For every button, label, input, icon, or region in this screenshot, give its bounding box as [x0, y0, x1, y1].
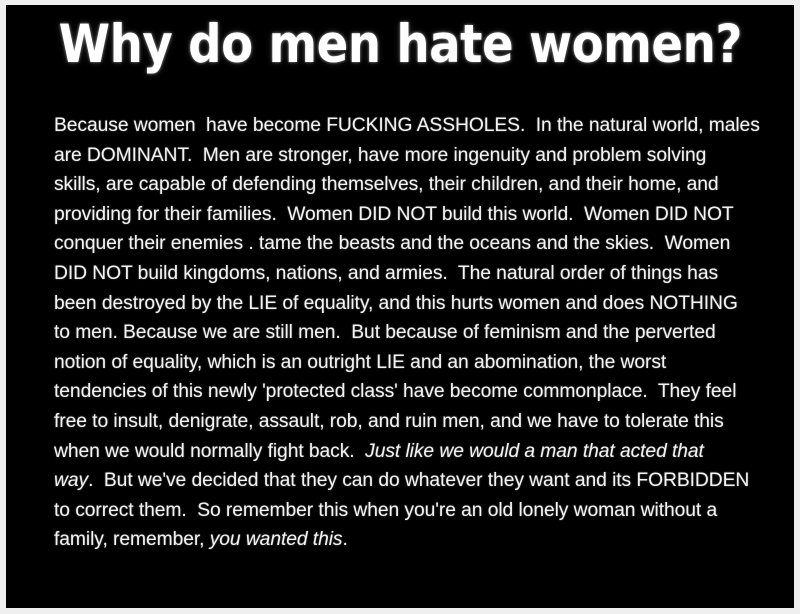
meme-title: Why do men hate women?: [58, 15, 741, 75]
body-line: providing for their families. Women DID …: [54, 200, 754, 230]
body-line: when we would normally fight back. Just …: [54, 437, 754, 467]
body-line: to men. Because we are still men. But be…: [54, 318, 754, 348]
body-line: to correct them. So remember this when y…: [54, 496, 754, 526]
body-text-run: DID NOT build kingdoms, nations, and arm…: [54, 263, 718, 284]
body-text-run: family, remember,: [54, 529, 210, 550]
body-line: been destroyed by the LIE of equality, a…: [54, 289, 754, 319]
body-line: skills, are capable of defending themsel…: [54, 170, 754, 200]
meme-frame: Why do men hate women? Because women hav…: [0, 0, 800, 614]
body-text-run: tendencies of this newly 'protected clas…: [54, 381, 736, 402]
title-block: Why do men hate women?: [6, 15, 794, 75]
body-text-run: providing for their families. Women DID …: [54, 204, 734, 225]
body-line: are DOMINANT. Men are stronger, have mor…: [54, 141, 754, 171]
body-line: tendencies of this newly 'protected clas…: [54, 377, 754, 407]
body-text-run: are DOMINANT. Men are stronger, have mor…: [54, 145, 706, 166]
body-text-run: to men. Because we are still men. But be…: [54, 322, 716, 343]
body-line: notion of equality, which is an outright…: [54, 348, 754, 378]
body-line: way. But we've decided that they can do …: [54, 466, 754, 496]
meme-canvas: Why do men hate women? Because women hav…: [6, 5, 794, 608]
body-text-italic: you wanted this: [210, 529, 343, 550]
body-line: conquer their enemies . tame the beasts …: [54, 229, 754, 259]
body-text-run: notion of equality, which is an outright…: [54, 352, 666, 373]
meme-body-text: Because women have become FUCKING ASSHOL…: [54, 111, 754, 555]
body-line: family, remember, you wanted this.: [54, 525, 754, 555]
body-text-italic: Just like we would a man that acted that: [365, 441, 704, 462]
body-text-run: free to insult, denigrate, assault, rob,…: [54, 411, 724, 432]
body-text-run: been destroyed by the LIE of equality, a…: [54, 293, 738, 314]
body-text-run: . But we've decided that they can do wha…: [88, 470, 749, 491]
body-text-run: skills, are capable of defending themsel…: [54, 174, 719, 195]
body-line: DID NOT build kingdoms, nations, and arm…: [54, 259, 754, 289]
body-text-italic: way: [54, 470, 88, 491]
body-line: free to insult, denigrate, assault, rob,…: [54, 407, 754, 437]
body-text-run: when we would normally fight back.: [54, 441, 365, 462]
body-line: Because women have become FUCKING ASSHOL…: [54, 111, 754, 141]
body-text-run: .: [342, 529, 347, 550]
body-text-run: to correct them. So remember this when y…: [54, 500, 717, 521]
body-text-run: Because women have become FUCKING ASSHOL…: [54, 115, 760, 136]
body-text-run: conquer their enemies . tame the beasts …: [54, 233, 730, 254]
